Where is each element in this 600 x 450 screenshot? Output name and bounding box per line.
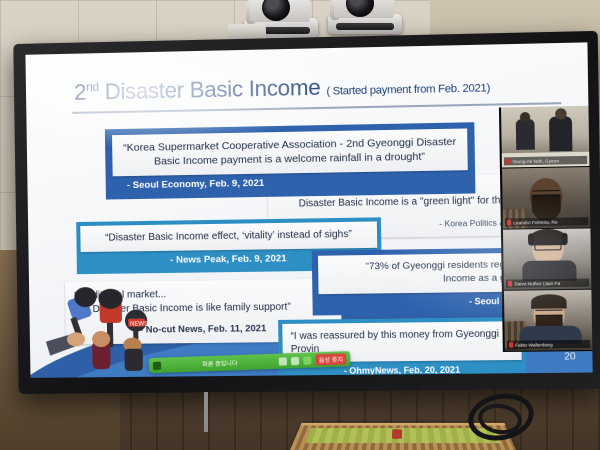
quote-card-reassured: “I was reassured by this money from Gyeo… [278, 317, 526, 378]
svg-text:NEWS: NEWS [130, 321, 148, 327]
quote-body: “Korea Supermarket Cooperative Associati… [112, 128, 468, 176]
mic-icon[interactable] [303, 356, 311, 364]
mic-muted-icon [507, 219, 511, 225]
quote-frame: “Korea Supermarket Cooperative Associati… [105, 122, 476, 200]
participant-name-bar: Steve Nuñez (Jain Fa [506, 278, 589, 287]
slide-title-ordinal-suffix: nd [86, 80, 99, 94]
camera-indicator-strip [336, 23, 394, 30]
speaker-icon[interactable] [279, 357, 287, 365]
reporter-hands [46, 331, 143, 372]
press-microphones-clipart: NEWS [43, 282, 165, 374]
headphone-cup-icon [561, 233, 567, 245]
eyeglasses-icon [535, 309, 562, 315]
tv-screen: 2nd Disaster Basic Income ( Started paym… [25, 42, 592, 378]
headphone-cup-icon [528, 233, 534, 245]
participant-name: Young-mi Noh, Gyeon [512, 158, 559, 164]
end-call-button[interactable]: 음성 중지 [315, 353, 346, 365]
quote-card-korea-supermarket: “Korea Supermarket Cooperative Associati… [105, 122, 476, 200]
person-body [516, 119, 535, 150]
person-body [549, 116, 572, 151]
quote-body: “Disaster Basic Income effect, ‘vitality… [80, 221, 377, 251]
participant-name: Fabio Waltenberg [515, 342, 553, 347]
quote-line-1: “Disaster Basic Income effect, ‘vitality… [88, 228, 369, 246]
call-status-text: 화른 중입니다 [165, 357, 275, 370]
eyeglasses-icon [532, 190, 559, 197]
tv-stand-pole [204, 392, 208, 432]
participant-tile[interactable]: Young-mi Noh, Gyeon [501, 106, 589, 169]
room-photo-scene: 2nd Disaster Basic Income ( Started paym… [0, 0, 600, 450]
participant-tile[interactable]: Fabio Waltenberg [504, 290, 592, 352]
slide-title-note: ( Started payment from Feb. 2021) [326, 82, 490, 98]
participant-name-bar: Fabio Waltenberg [507, 340, 590, 349]
mic-muted-icon [509, 342, 513, 348]
person-hair [531, 294, 567, 309]
slide-title-ordinal: 2 [74, 80, 86, 105]
participant-tile[interactable]: Steve Nuñez (Jain Fa [503, 228, 591, 290]
slide-title-main: Disaster Basic Income [105, 75, 321, 105]
zoom-participant-strip[interactable]: Young-mi Noh, Gyeon Leandro Ferreira [499, 106, 592, 352]
tv-bezel: 2nd Disaster Basic Income ( Started paym… [13, 31, 600, 394]
slide-title: 2nd Disaster Basic Income ( Started paym… [74, 71, 490, 106]
phone-icon [153, 361, 161, 369]
ptz-camera-right [328, 14, 402, 34]
slide-page-number: 20 [564, 351, 576, 362]
mic-muted-icon [508, 281, 512, 287]
participant-tile[interactable]: Leandro Ferreira, Re [502, 167, 590, 230]
participant-name: Leandro Ferreira, Re [513, 219, 557, 225]
quote-frame: “I was reassured by this money from Gyeo… [278, 317, 526, 378]
wall-mounted-tv: 2nd Disaster Basic Income ( Started paym… [13, 31, 600, 394]
participant-name-bar: Young-mi Noh, Gyeon [504, 156, 587, 166]
participant-name-bar: Leandro Ferreira, Re [505, 217, 588, 226]
video-icon[interactable] [291, 356, 299, 364]
participant-name: Steve Nuñez (Jain Fa [514, 280, 560, 286]
eyeglasses-icon [534, 243, 561, 251]
mic-muted-icon [506, 158, 510, 164]
quote-source: - Seoul Economy, Feb. 9, 2021 [127, 175, 468, 192]
